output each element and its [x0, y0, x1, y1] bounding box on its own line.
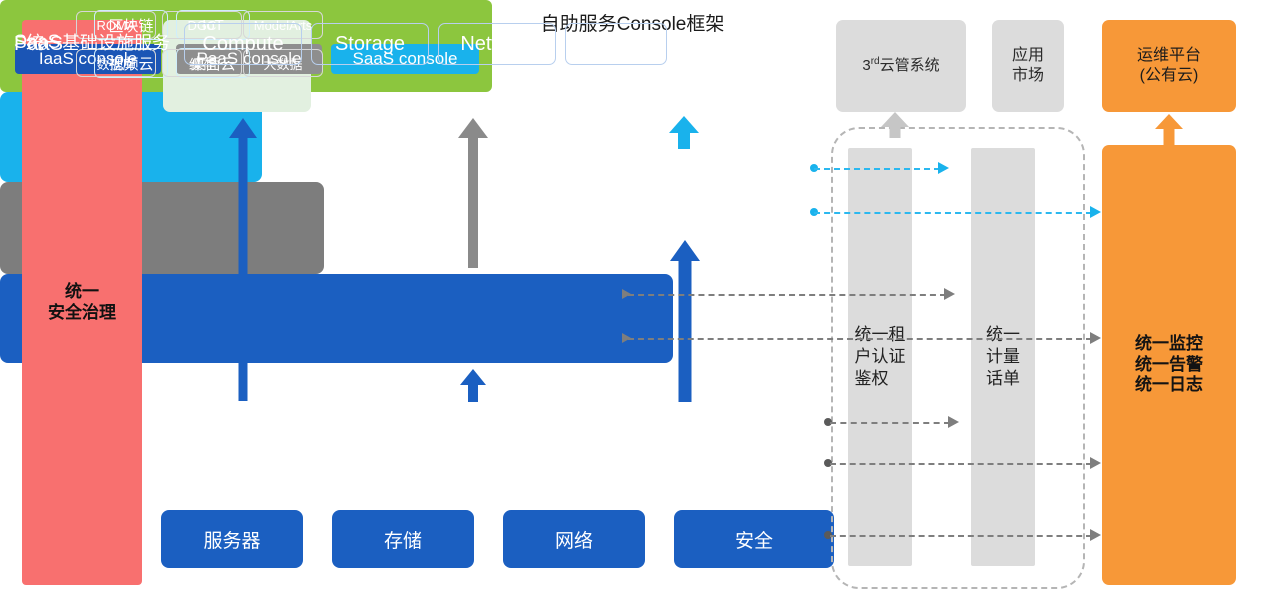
iaas-service-network[interactable]: Network — [438, 23, 556, 65]
connector-saas-to-ops — [814, 212, 1092, 214]
arrow-ops-side-to-ops-top — [1155, 114, 1183, 146]
connector-arrowhead-iaas-ops — [1090, 457, 1101, 469]
ops-platform-side-label: 统一监控 统一告警 统一日志 — [1135, 334, 1203, 396]
unified-billing-column: 统一 计量 话单 — [971, 148, 1035, 566]
unified-tenant-auth-column: 统一租 户认证 鉴权 — [848, 148, 912, 566]
connector-paas-to-auth — [628, 294, 946, 296]
architecture-diagram: 统一 安全治理 API网关 自助服务Console框架 IaaS console… — [0, 0, 1265, 605]
third-party-cloud-mgmt-box: 3rd云管系统 — [836, 20, 966, 112]
arrow-iaas-to-saas — [670, 240, 700, 402]
connector-arrowhead-paas-auth — [944, 288, 955, 300]
unified-billing-label: 统一 计量 话单 — [986, 324, 1020, 390]
arrow-iaas-to-api-gateway — [228, 118, 258, 401]
arrow-shared-to-third-party — [881, 112, 909, 138]
hardware-network-box[interactable]: 网络 — [503, 510, 645, 568]
connector-arrowhead-iaas-billing — [948, 416, 959, 428]
arrow-saas-to-console — [669, 116, 699, 149]
connector-arrowhead-saas-ops — [1090, 206, 1101, 218]
connector-iaas-to-ops — [830, 463, 1092, 465]
app-market-box: 应用 市场 — [992, 20, 1064, 112]
iaas-service-compute[interactable]: Compute — [184, 23, 302, 65]
iaas-service-cce[interactable]: CCE — [565, 23, 667, 65]
connector-hardware-to-ops — [830, 535, 1092, 537]
ops-platform-top-label: 运维平台 (公有云) — [1137, 46, 1201, 85]
app-market-label: 应用 市场 — [1012, 46, 1044, 85]
third-party-cloud-mgmt-label: 3rd云管系统 — [862, 56, 939, 75]
connector-iaas-to-billing — [830, 422, 950, 424]
arrow-iaas-to-paas — [460, 369, 486, 402]
hardware-security-box[interactable]: 安全 — [674, 510, 834, 568]
hardware-server-box[interactable]: 服务器 — [161, 510, 303, 568]
arrow-paas-to-console — [458, 118, 488, 268]
unified-tenant-auth-label: 统一租 户认证 鉴权 — [855, 324, 906, 390]
connector-paas-to-ops — [628, 338, 1092, 340]
security-governance-panel: 统一 安全治理 — [22, 20, 142, 585]
security-governance-label: 统一 安全治理 — [48, 282, 116, 323]
iaas-service-storage[interactable]: Storage — [311, 23, 429, 65]
iaas-label: 统一基础设施服务 — [18, 29, 178, 55]
connector-arrowhead-paas-ops — [1090, 332, 1101, 344]
ops-platform-side-panel: 统一监控 统一告警 统一日志 — [1102, 145, 1236, 585]
hardware-storage-box[interactable]: 存储 — [332, 510, 474, 568]
ops-platform-top-box: 运维平台 (公有云) — [1102, 20, 1236, 112]
connector-saas-to-auth — [814, 168, 940, 170]
connector-arrowhead-hardware-ops — [1090, 529, 1101, 541]
connector-arrowhead-saas-auth — [938, 162, 949, 174]
